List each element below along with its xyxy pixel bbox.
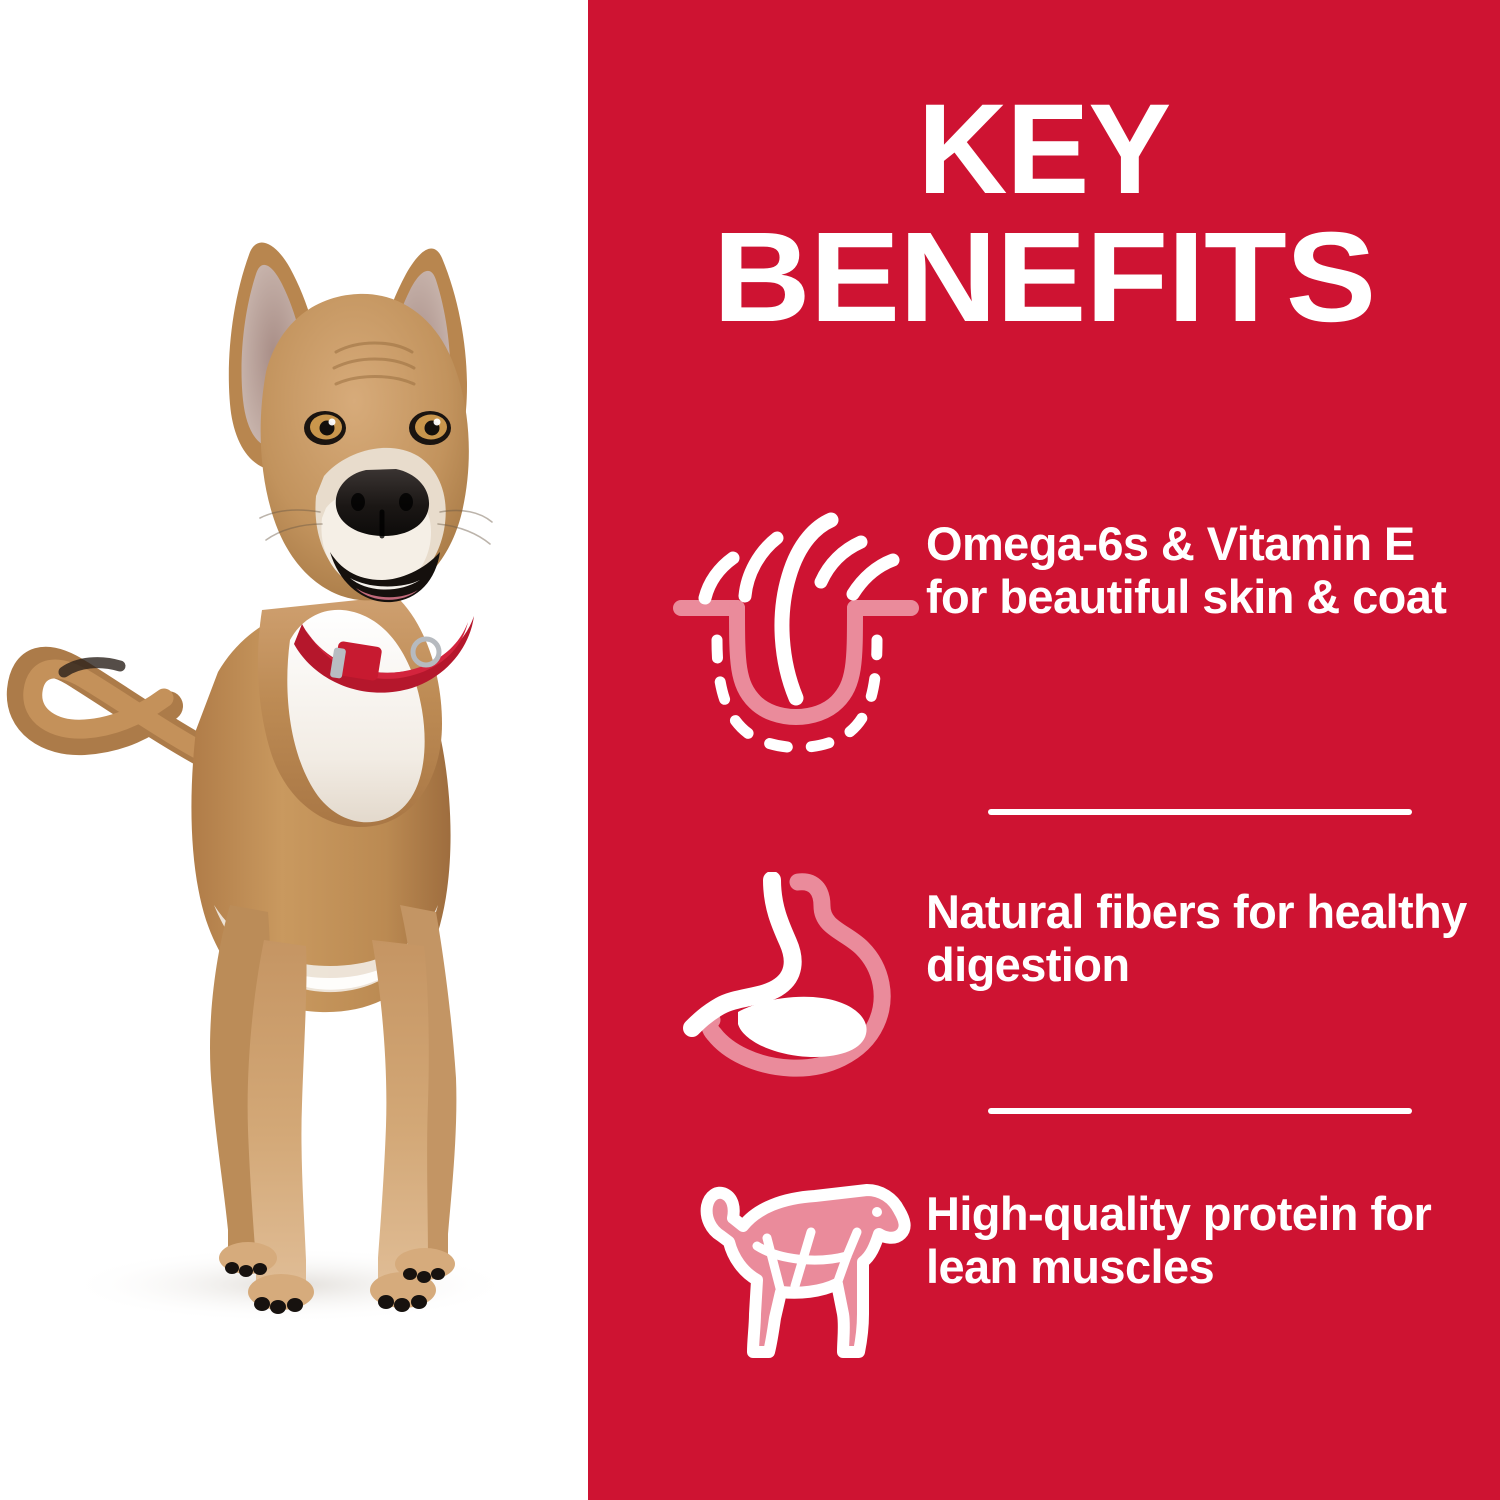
benefit-item-lean-muscles: High-quality protein for lean muscles	[666, 1172, 1486, 1372]
key-benefits-panel: KEY BENEFITS	[588, 0, 1500, 1500]
dog-muscle-icon	[666, 1172, 926, 1372]
section-divider	[988, 809, 1412, 815]
hair-follicle-icon	[666, 512, 926, 757]
benefit-text-lean-muscles: High-quality protein for lean muscles	[926, 1172, 1486, 1293]
section-divider	[988, 1108, 1412, 1114]
title-line-benefits: BENEFITS	[561, 216, 1500, 340]
page-title: KEY BENEFITS	[588, 88, 1500, 340]
title-line-key: KEY	[602, 88, 1487, 212]
dog-photo	[0, 0, 588, 1500]
benefit-item-skin-coat: Omega-6s & Vitamin E for beautiful skin …	[666, 512, 1486, 757]
benefit-text-skin-coat: Omega-6s & Vitamin E for beautiful skin …	[926, 512, 1486, 623]
benefit-item-digestion: Natural fibers for healthy digestion	[666, 872, 1486, 1087]
benefit-text-digestion: Natural fibers for healthy digestion	[926, 872, 1486, 991]
stomach-digestion-icon	[666, 872, 926, 1087]
key-benefits-product-graphic: KEY BENEFITS	[0, 0, 1500, 1500]
dog-photo-panel	[0, 0, 588, 1500]
